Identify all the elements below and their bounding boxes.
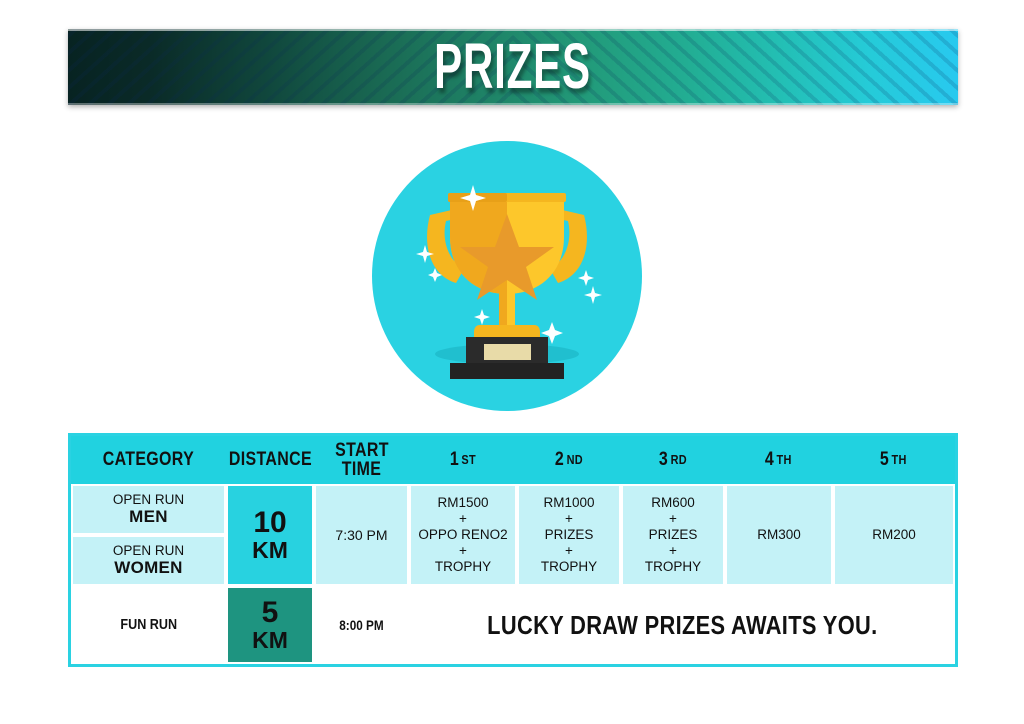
header-start-time: START TIME bbox=[314, 436, 409, 484]
fun-run-category-cell: FUN RUN bbox=[71, 586, 226, 664]
fun-run-category-label: FUN RUN bbox=[120, 616, 177, 634]
open-run-prize-5th: RM200 bbox=[833, 484, 955, 586]
header-place-3: 3RD bbox=[621, 436, 725, 484]
prizes-table: CATEGORY DISTANCE START TIME 1ST 2ND 3RD… bbox=[68, 433, 958, 667]
fun-run-note-cell: LUCKY DRAW PRIZES AWAITS YOU. bbox=[409, 586, 955, 664]
header-place-3-number: 3 bbox=[659, 450, 668, 469]
header-category: CATEGORY bbox=[71, 436, 226, 484]
header-place-4-number: 4 bbox=[765, 450, 774, 469]
open-run-women-line1: OPEN RUN bbox=[113, 543, 184, 559]
header-distance-label: DISTANCE bbox=[228, 450, 311, 469]
header-distance: DISTANCE bbox=[226, 436, 314, 484]
open-run-distance-unit: KM bbox=[252, 538, 288, 562]
open-run-distance-cell: 10 KM bbox=[226, 484, 314, 586]
header-place-3-suffix: RD bbox=[670, 453, 686, 466]
table-header-row: CATEGORY DISTANCE START TIME 1ST 2ND 3RD… bbox=[71, 436, 955, 484]
header-category-label: CATEGORY bbox=[103, 450, 194, 469]
table-row-fun-run: FUN RUN 5 KM 8:00 PM LUCKY DRAW PRIZES A… bbox=[71, 586, 955, 664]
open-run-men-cell: OPEN RUN MEN bbox=[71, 484, 226, 535]
header-place-5: 5TH bbox=[833, 436, 955, 484]
open-run-men-line2: MEN bbox=[113, 507, 184, 527]
header-place-1: 1ST bbox=[409, 436, 517, 484]
open-run-women-cell: OPEN RUN WOMEN bbox=[71, 535, 226, 586]
header-start-line2: TIME bbox=[342, 460, 381, 479]
open-run-start-time: 7:30 PM bbox=[335, 527, 387, 544]
header-place-2-suffix: ND bbox=[566, 453, 582, 466]
open-run-distance-value: 10 bbox=[252, 508, 288, 538]
open-run-category-group: OPEN RUN MEN OPEN RUN WOMEN bbox=[71, 484, 226, 586]
fun-run-distance-cell: 5 KM bbox=[226, 586, 314, 664]
fun-run-distance-value: 5 bbox=[252, 598, 288, 628]
open-run-prize-2nd: RM1000 + PRIZES + TROPHY bbox=[517, 484, 621, 586]
open-run-prize-4th: RM300 bbox=[725, 484, 833, 586]
fun-run-distance-unit: KM bbox=[252, 628, 288, 652]
header-place-4: 4TH bbox=[725, 436, 833, 484]
header-place-5-suffix: TH bbox=[892, 453, 907, 466]
fun-run-start-time: 8:00 PM bbox=[339, 617, 383, 634]
header-start-line1: START bbox=[335, 441, 389, 460]
open-run-prize-1st: RM1500 + OPPO RENO2 + TROPHY bbox=[409, 484, 517, 586]
header-place-4-suffix: TH bbox=[777, 453, 792, 466]
open-run-prize-3rd: RM600 + PRIZES + TROPHY bbox=[621, 484, 725, 586]
header-place-2: 2ND bbox=[517, 436, 621, 484]
trophy-badge bbox=[372, 141, 652, 406]
page-title: PRIZES bbox=[68, 36, 958, 98]
header-place-1-number: 1 bbox=[450, 450, 459, 469]
prizes-banner: PRIZES bbox=[68, 29, 958, 105]
open-run-men-line1: OPEN RUN bbox=[113, 492, 184, 508]
fun-run-start-time-cell: 8:00 PM bbox=[314, 586, 409, 664]
open-run-start-time-cell: 7:30 PM bbox=[314, 484, 409, 586]
header-place-5-number: 5 bbox=[880, 450, 889, 469]
table-row-open-run: OPEN RUN MEN OPEN RUN WOMEN 10 KM 7:30 P… bbox=[71, 484, 955, 586]
header-place-1-suffix: ST bbox=[461, 453, 476, 466]
header-place-2-number: 2 bbox=[555, 450, 564, 469]
page-title-text: PRIZES bbox=[435, 30, 592, 103]
trophy-icon bbox=[372, 141, 642, 411]
open-run-women-line2: WOMEN bbox=[113, 558, 184, 578]
fun-run-note: LUCKY DRAW PRIZES AWAITS YOU. bbox=[487, 610, 877, 641]
